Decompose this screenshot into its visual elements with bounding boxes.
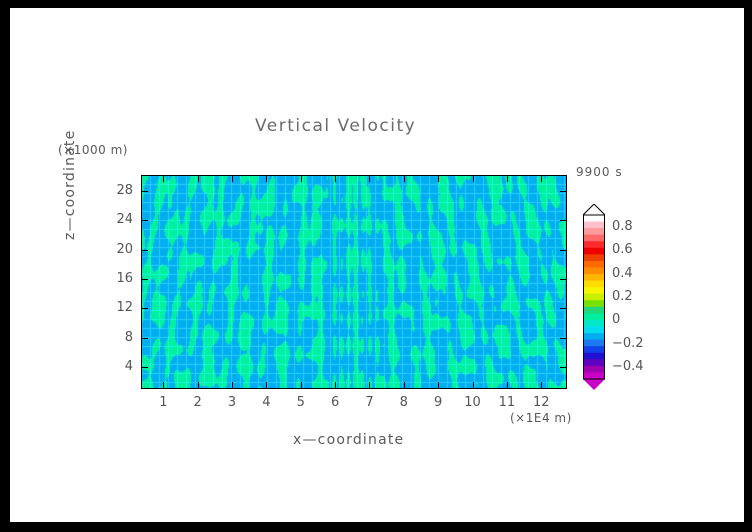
x-axis-tick-top [232, 175, 233, 182]
x-axis-tick-top [335, 175, 336, 182]
x-axis-tick-top [266, 175, 267, 182]
x-axis-tick [507, 382, 508, 389]
y-axis-tick [141, 308, 148, 309]
colorbar-gradient [583, 204, 605, 390]
x-axis-tick [438, 382, 439, 389]
y-axis-tick-right [560, 367, 567, 368]
x-axis-tick-label: 8 [389, 395, 419, 410]
x-axis-tick [301, 382, 302, 389]
x-axis-tick-label: 12 [526, 395, 556, 410]
x-axis-tick-top [301, 175, 302, 182]
z-axis-title: z—coordinate [62, 130, 78, 240]
y-axis-tick [141, 191, 148, 192]
y-axis-tick-label: 8 [103, 330, 133, 345]
y-axis-tick-right [560, 308, 567, 309]
x-axis-tick [335, 382, 336, 389]
colorbar-tick-label: −0.2 [612, 336, 644, 351]
x-axis-tick-top [541, 175, 542, 182]
x-axis-tick-top [198, 175, 199, 182]
x-axis-tick-top [438, 175, 439, 182]
x-axis-tick [541, 382, 542, 389]
colorbar [583, 204, 605, 390]
y-axis-tick-right [560, 191, 567, 192]
x-axis-tick-label: 5 [286, 395, 316, 410]
y-axis-tick-label: 4 [103, 359, 133, 374]
contour-plot-area [141, 175, 567, 389]
x-axis-tick [473, 382, 474, 389]
y-axis-tick-right [560, 220, 567, 221]
colorbar-tick-label: 0.4 [612, 266, 633, 281]
y-axis-tick [141, 220, 148, 221]
x-axis-tick-top [369, 175, 370, 182]
x-axis-tick-label: 6 [320, 395, 350, 410]
plot-canvas: Vertical Velocity (×1000 m) 9900 s (×1E4… [10, 8, 744, 522]
y-axis-tick [141, 338, 148, 339]
x-axis-tick [198, 382, 199, 389]
x-axis-tick-top [507, 175, 508, 182]
vertical-velocity-field [141, 175, 567, 389]
page-title: Vertical Velocity [255, 116, 416, 136]
colorbar-tick-label: 0.6 [612, 242, 633, 257]
y-axis-tick-label: 12 [103, 300, 133, 315]
y-axis-tick-right [560, 279, 567, 280]
figure-frame: Vertical Velocity (×1000 m) 9900 s (×1E4… [0, 0, 752, 532]
x-axis-tick-label: 7 [354, 395, 384, 410]
x-axis-tick-label: 4 [251, 395, 281, 410]
y-axis-tick [141, 279, 148, 280]
y-axis-tick [141, 367, 148, 368]
colorbar-tick-label: 0 [612, 312, 620, 327]
y-axis-tick-label: 24 [103, 212, 133, 227]
x-axis-tick-label: 9 [423, 395, 453, 410]
colorbar-tick-label: 0.2 [612, 289, 633, 304]
colorbar-tick-label: 0.8 [612, 219, 633, 234]
x-axis-tick-label: 3 [217, 395, 247, 410]
y-axis-tick-label: 28 [103, 183, 133, 198]
y-axis-tick-label: 16 [103, 271, 133, 286]
colorbar-tick-label: −0.4 [612, 359, 644, 374]
y-axis-tick-label: 20 [103, 242, 133, 257]
x-axis-tick-label: 10 [458, 395, 488, 410]
y-axis-tick [141, 250, 148, 251]
x-axis-tick-top [163, 175, 164, 182]
x-axis-tick-top [404, 175, 405, 182]
x-axis-tick [369, 382, 370, 389]
timestamp-label: 9900 s [576, 165, 623, 179]
x-axis-tick [266, 382, 267, 389]
y-axis-tick-right [560, 250, 567, 251]
x-axis-tick-label: 11 [492, 395, 522, 410]
x-axis-tick [163, 382, 164, 389]
x-axis-tick-top [473, 175, 474, 182]
x-axis-tick [404, 382, 405, 389]
x-axis-tick [232, 382, 233, 389]
x-axis-tick-label: 1 [148, 395, 178, 410]
x-axis-tick-label: 2 [183, 395, 213, 410]
x-axis-title: x—coordinate [293, 432, 404, 448]
x-axis-unit-label: (×1E4 m) [510, 411, 572, 425]
y-axis-tick-right [560, 338, 567, 339]
